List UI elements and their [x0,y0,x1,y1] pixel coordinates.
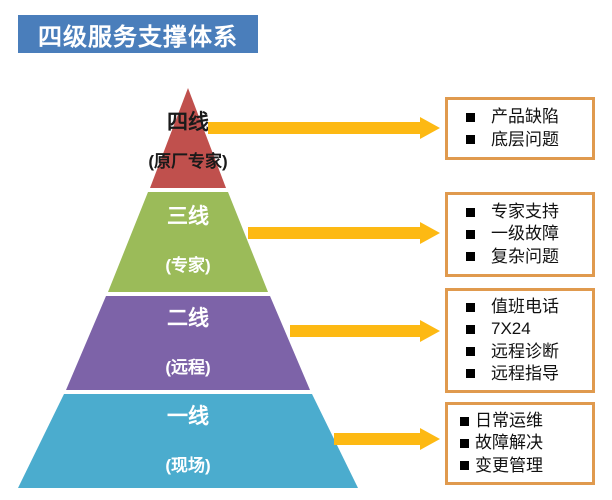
list-item: 远程指导 [458,364,586,384]
list-item: 专家支持 [458,202,586,222]
pyramid-tier-1-level: 一线 [88,406,288,427]
bullet-square-icon [466,208,475,217]
callout-item-label: 故障解决 [475,433,543,453]
callout-item-label: 复杂问题 [491,247,559,267]
callout-item-label: 专家支持 [491,202,559,222]
list-item: 远程诊断 [458,342,586,362]
list-item: 一级故障 [458,224,586,244]
callout-item-label: 值班电话 [491,297,559,317]
callout-item-label: 7X24 [491,319,531,339]
bullet-square-icon [466,252,475,261]
callout-tier-4[interactable]: 产品缺陷 底层问题 [445,97,595,160]
bullet-square-icon [460,439,469,448]
pyramid-tier-1-labels: 一线 (现场) [88,406,288,474]
pyramid-tier-2-level: 二线 [88,308,288,329]
callout-item-label: 远程诊断 [491,342,559,362]
bullet-square-icon [466,347,475,356]
list-item: 日常运维 [458,411,586,431]
list-item: 值班电话 [458,297,586,317]
arrow-right-icon-tier-1 [334,428,440,450]
list-item: 变更管理 [458,456,586,476]
pyramid-tier-3-role: (专家) [88,257,288,274]
callout-item-label: 变更管理 [475,456,543,476]
list-item: 故障解决 [458,433,586,453]
list-item: 产品缺陷 [458,107,586,127]
callout-tier-1[interactable]: 日常运维 故障解决 变更管理 [445,402,595,485]
page-title-banner: 四级服务支撑体系 [18,15,258,53]
callout-tier-3[interactable]: 专家支持 一级故障 复杂问题 [445,192,595,277]
callout-item-label: 一级故障 [491,224,559,244]
arrow-right-icon-tier-3 [248,222,440,244]
bullet-square-icon [460,417,469,426]
bullet-square-icon [466,230,475,239]
callout-item-label: 远程指导 [491,364,559,384]
pyramid-tier-4-role: (原厂专家) [88,153,288,170]
arrow-right-icon-tier-4 [208,117,440,139]
callout-item-label: 底层问题 [491,130,559,150]
bullet-square-icon [466,135,475,144]
list-item: 7X24 [458,319,586,339]
bullet-square-icon [466,369,475,378]
bullet-square-icon [460,461,469,470]
callout-item-label: 日常运维 [475,411,543,431]
pyramid-tier-2-role: (远程) [88,359,288,376]
pyramid-tier-2-labels: 二线 (远程) [88,308,288,376]
list-item: 底层问题 [458,130,586,150]
callout-tier-2[interactable]: 值班电话 7X24 远程诊断 远程指导 [445,288,595,393]
bullet-square-icon [466,303,475,312]
arrow-right-icon-tier-2 [290,320,440,342]
bullet-square-icon [466,113,475,122]
page-title: 四级服务支撑体系 [38,17,238,52]
callout-item-label: 产品缺陷 [491,107,559,127]
pyramid-tier-1-role: (现场) [88,457,288,474]
bullet-square-icon [466,325,475,334]
list-item: 复杂问题 [458,247,586,267]
